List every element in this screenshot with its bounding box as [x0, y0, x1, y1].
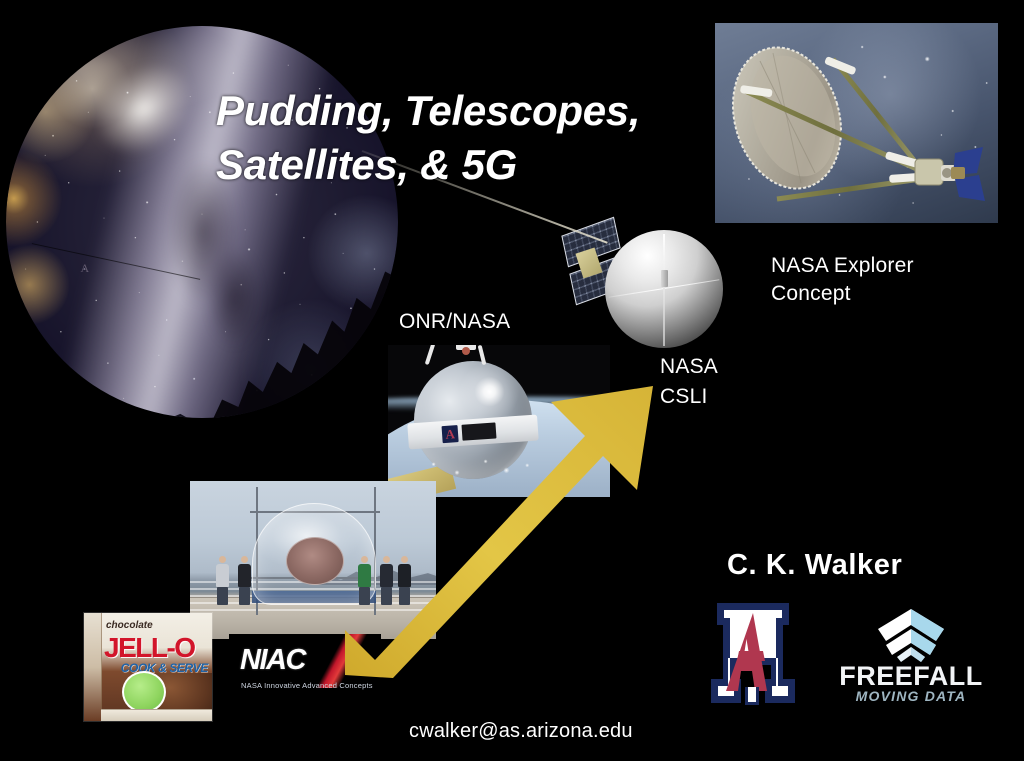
person-legs [239, 587, 250, 605]
inflatable-spherical-antenna [605, 230, 723, 348]
freefall-wordmark: FREEFALL [832, 663, 990, 690]
box-bottom-band [101, 709, 212, 721]
presentation-slide: A [0, 0, 1024, 761]
jello-green-badge [122, 671, 166, 713]
balloon-rigging [422, 345, 514, 369]
jello-flavor-label: chocolate [106, 620, 153, 631]
author-name: C. K. Walker [727, 549, 902, 582]
explorer-label-line1: NASA Explorer [771, 252, 914, 280]
faint-marker: A [80, 261, 89, 276]
freefall-tagline: MOVING DATA [832, 689, 990, 703]
person-legs [217, 587, 228, 605]
person-head [219, 556, 226, 563]
jello-brand-wordmark: JELL-O [104, 632, 195, 664]
csli-label-line2: CSLI [660, 382, 718, 412]
person-2 [238, 556, 251, 605]
freefall-logo: FREEFALL MOVING DATA [832, 607, 990, 709]
box-spine [84, 613, 102, 721]
progression-arrow [335, 378, 665, 678]
csli-cubesat-illustration [557, 212, 737, 372]
freefall-chevron-icon [832, 607, 990, 663]
person-1 [216, 556, 229, 605]
nasa-explorer-concept-label: NASA Explorer Concept [771, 252, 914, 309]
slide-title-line1: Pudding, Telescopes, [216, 84, 716, 138]
explorer-telescope-drawing [715, 23, 998, 223]
nasa-explorer-concept-photo [715, 23, 998, 223]
jello-pudding-box: chocolate JELL-O COOK & SERVE [84, 613, 212, 721]
person-head [241, 556, 248, 563]
antenna-hub [661, 270, 668, 287]
university-of-arizona-logo [693, 591, 813, 709]
niac-subtitle: NASA Innovative Advanced Concepts [241, 681, 373, 690]
niac-wordmark: NIAC [240, 644, 305, 677]
explorer-label-line2: Concept [771, 280, 914, 308]
person-torso [216, 564, 229, 587]
contact-email[interactable]: cwalker@as.arizona.edu [409, 720, 633, 743]
onr-nasa-label: ONR/NASA [399, 310, 510, 334]
slide-title: Pudding, Telescopes, Satellites, & 5G [216, 84, 716, 192]
person-torso [238, 564, 251, 587]
antenna-meridian-seam [663, 234, 665, 346]
slide-title-line2: Satellites, & 5G [216, 138, 716, 192]
